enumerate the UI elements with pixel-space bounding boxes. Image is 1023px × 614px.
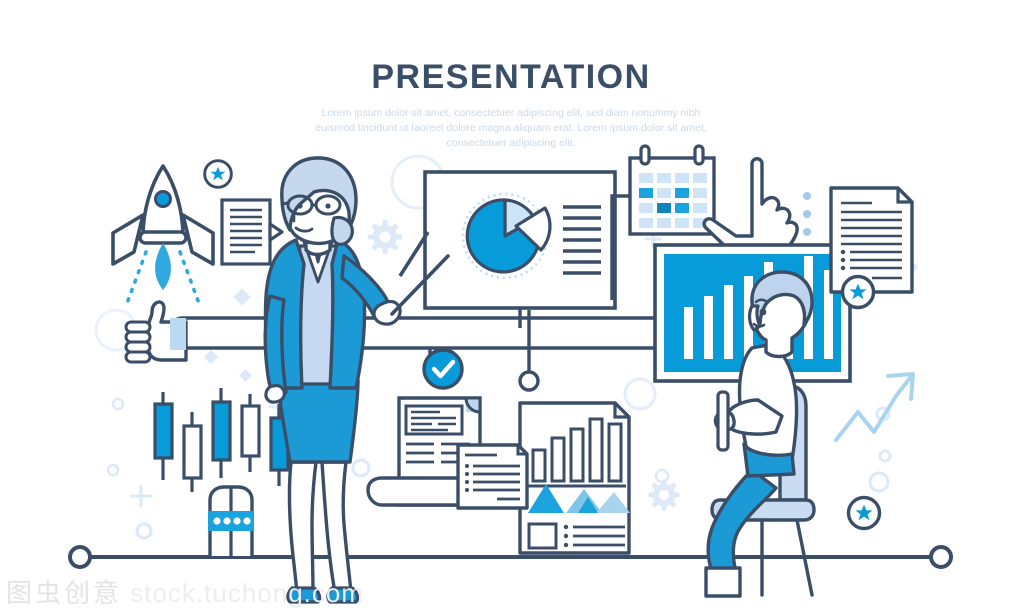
- presentation-illustration: PRESENTATION Lorem ipsum dolor sit amet,…: [0, 0, 1023, 614]
- page-title: PRESENTATION: [371, 58, 650, 96]
- document-stack-report: [520, 403, 630, 553]
- star-badge-bottom-right: [849, 498, 880, 529]
- candlestick-chart: [155, 388, 288, 492]
- gear-icon-near-presenter: [368, 220, 402, 254]
- rocket-icon: [113, 161, 231, 306]
- subtitle-line-1: Lorem ipsum dolor sit amet, consectetuer…: [322, 107, 701, 119]
- gear-icon-bottom-center: [648, 479, 679, 510]
- star-badge-top-left: [205, 161, 232, 188]
- star-badge-document: [843, 277, 874, 308]
- document-left-lines: [222, 200, 282, 264]
- subtitle-line-2: euismod tincidunt ut laoreet dolore magn…: [315, 122, 707, 134]
- document-right-star: [831, 188, 912, 308]
- board-legend-lines: [563, 207, 601, 273]
- server-rack-icon: [208, 487, 254, 556]
- presentation-board: [400, 172, 615, 328]
- subtitle-line-3: consectetuer adipiscing elit.: [447, 137, 576, 149]
- growth-arrow-icon: [836, 374, 913, 440]
- businesswoman-presenter: [265, 158, 448, 602]
- stylus-pen: [718, 392, 728, 450]
- baseline-timeline: [70, 547, 951, 567]
- header-group: PRESENTATION Lorem ipsum dolor sit amet,…: [315, 58, 707, 149]
- document-stack-memo: [368, 398, 527, 508]
- timeline-endpoint-right: [931, 547, 951, 567]
- illustration-canvas: PRESENTATION Lorem ipsum dolor sit amet,…: [0, 0, 1023, 614]
- timeline-endpoint-left: [70, 547, 90, 567]
- check-circle-icon: [424, 350, 462, 388]
- thumbs-up-icon: [126, 302, 186, 362]
- connector-node: [520, 372, 538, 390]
